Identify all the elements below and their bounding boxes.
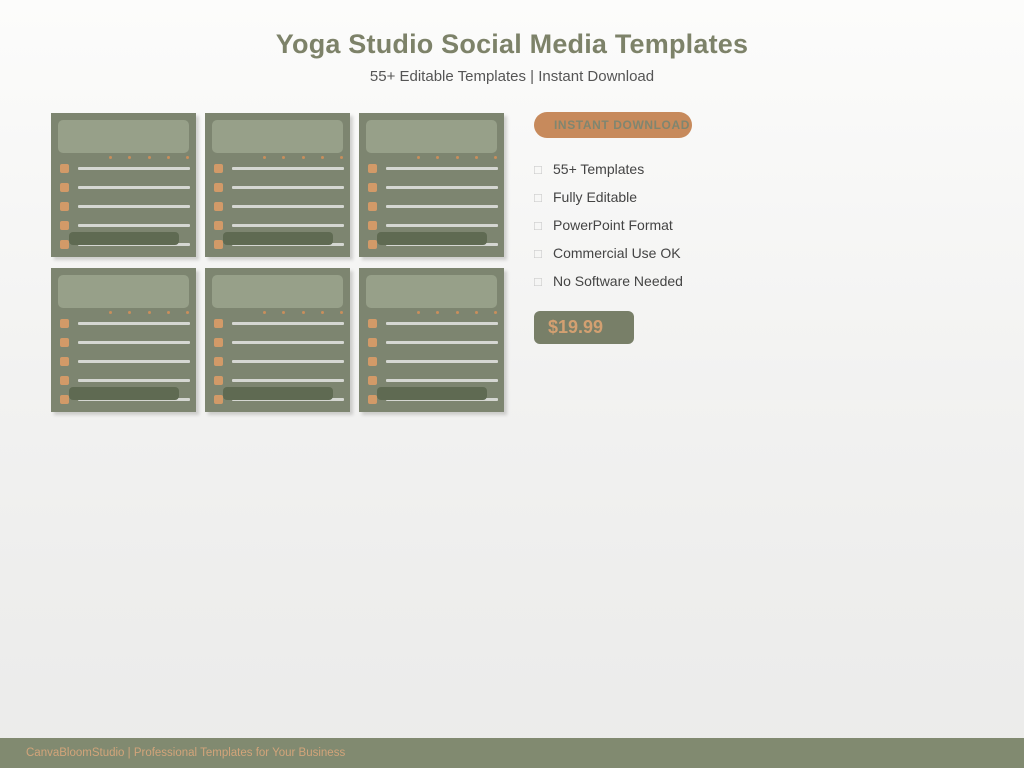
template-card-row [368, 374, 498, 386]
product-info-panel: INSTANT DOWNLOAD □55+ Templates□Fully Ed… [534, 112, 954, 138]
feature-list-item: □No Software Needed [534, 267, 834, 295]
template-card-row [60, 374, 190, 386]
template-card-row-line [78, 205, 190, 208]
instant-download-badge[interactable]: INSTANT DOWNLOAD [534, 112, 692, 138]
template-card-row-marker [368, 202, 377, 211]
feature-bullet-icon: □ [534, 275, 546, 288]
template-card-row-line [232, 167, 344, 170]
template-card-row [368, 162, 498, 174]
template-card-row-marker [214, 240, 223, 249]
template-card-dot [456, 156, 459, 159]
template-card-dot [282, 311, 285, 314]
template-card-dot [321, 156, 324, 159]
template-card-dot-row [417, 156, 497, 161]
price-badge-label: $19.99 [548, 311, 603, 344]
template-card-row-marker [368, 221, 377, 230]
template-card-dot [417, 311, 420, 314]
template-card-row [60, 219, 190, 231]
template-card-dot [109, 156, 112, 159]
template-card-row-line [232, 322, 344, 325]
template-card-row [368, 317, 498, 329]
template-card-header-bar [366, 275, 497, 308]
template-card-footer-bar [377, 387, 487, 400]
template-card-row-marker [214, 376, 223, 385]
template-card-row-line [78, 167, 190, 170]
feature-label: No Software Needed [553, 273, 683, 289]
template-card-footer-bar [69, 232, 179, 245]
template-card-dot [282, 156, 285, 159]
template-card-row [60, 355, 190, 367]
template-card-dot [475, 156, 478, 159]
template-card-dot [148, 156, 151, 159]
feature-list-item: □Commercial Use OK [534, 239, 834, 267]
template-card-row [60, 336, 190, 348]
template-card-dot [436, 156, 439, 159]
feature-label: 55+ Templates [553, 161, 644, 177]
template-card-row-marker [60, 221, 69, 230]
template-card-dot-row [417, 311, 497, 316]
template-card-row-line [232, 379, 344, 382]
template-card-row-marker [214, 338, 223, 347]
feature-label: PowerPoint Format [553, 217, 673, 233]
feature-bullet-icon: □ [534, 191, 546, 204]
template-card[interactable] [359, 113, 504, 257]
template-card-dot [340, 311, 343, 314]
template-card[interactable] [359, 268, 504, 412]
page-header: Yoga Studio Social Media Templates 55+ E… [0, 0, 1024, 87]
template-card-dot-row [109, 311, 189, 316]
template-card-dot [128, 156, 131, 159]
template-card-row-marker [60, 240, 69, 249]
template-card-row-line [232, 205, 344, 208]
template-card-footer-bar [377, 232, 487, 245]
template-card-row-marker [368, 319, 377, 328]
template-card-dot [321, 311, 324, 314]
template-card-row-line [386, 205, 498, 208]
footer-brand-text: CanvaBloomStudio | Professional Template… [26, 738, 345, 768]
template-card-row-marker [368, 376, 377, 385]
template-card-row [368, 355, 498, 367]
template-card-row-line [386, 186, 498, 189]
feature-label: Fully Editable [553, 189, 637, 205]
feature-list-item: □Fully Editable [534, 183, 834, 211]
footer-bar: CanvaBloomStudio | Professional Template… [0, 738, 1024, 768]
template-card-row-line [386, 224, 498, 227]
template-card-row-marker [60, 183, 69, 192]
feature-list-item: □PowerPoint Format [534, 211, 834, 239]
template-card-row-line [386, 322, 498, 325]
template-card-row-line [78, 341, 190, 344]
template-card-header-bar [212, 120, 343, 153]
template-card-row [214, 317, 344, 329]
template-card-row-marker [60, 338, 69, 347]
template-card-row [214, 162, 344, 174]
template-card-footer-bar [223, 387, 333, 400]
template-card-row-marker [60, 202, 69, 211]
template-card-row [214, 336, 344, 348]
template-card-dot [167, 156, 170, 159]
template-card-dot [109, 311, 112, 314]
template-card-row-marker [60, 357, 69, 366]
template-card-dot [167, 311, 170, 314]
template-card-row [214, 374, 344, 386]
template-card-dot [148, 311, 151, 314]
template-card-header-bar [366, 120, 497, 153]
template-card-dot [475, 311, 478, 314]
template-card-footer-bar [69, 387, 179, 400]
template-card-row-line [232, 341, 344, 344]
feature-bullet-icon: □ [534, 247, 546, 260]
page-subtitle: 55+ Editable Templates | Instant Downloa… [0, 61, 1024, 87]
template-card-row-marker [214, 183, 223, 192]
template-card-row-line [386, 167, 498, 170]
template-card-dot-row [263, 156, 343, 161]
template-card-dot [302, 156, 305, 159]
template-card-header-bar [212, 275, 343, 308]
template-card-row-marker [60, 319, 69, 328]
template-card-row-line [78, 186, 190, 189]
template-card-row-line [232, 224, 344, 227]
template-card-row-marker [368, 357, 377, 366]
template-card[interactable] [205, 113, 350, 257]
template-card-row-marker [368, 240, 377, 249]
template-card-row-line [78, 224, 190, 227]
template-card-row-marker [214, 357, 223, 366]
template-card[interactable] [51, 268, 196, 412]
template-card-row-line [78, 360, 190, 363]
template-card-row-line [386, 379, 498, 382]
page-title: Yoga Studio Social Media Templates [0, 0, 1024, 61]
template-card-row-line [232, 186, 344, 189]
template-card-dot [340, 156, 343, 159]
template-card-row-line [386, 360, 498, 363]
template-card-dot [494, 311, 497, 314]
template-card-row [214, 181, 344, 193]
template-card-dot-row [263, 311, 343, 316]
template-card-header-bar [58, 275, 189, 308]
template-card-row-marker [60, 395, 69, 404]
template-card-row [60, 181, 190, 193]
template-card-row-marker [214, 202, 223, 211]
template-card-row [368, 336, 498, 348]
template-card[interactable] [51, 113, 196, 257]
template-card-row-marker [214, 221, 223, 230]
template-card-row-marker [214, 164, 223, 173]
template-card-row-marker [214, 395, 223, 404]
template-card-row-marker [368, 183, 377, 192]
template-card-dot-row [109, 156, 189, 161]
template-card-row-marker [368, 164, 377, 173]
template-card-row-marker [60, 164, 69, 173]
template-card-row [60, 200, 190, 212]
template-card-dot [186, 156, 189, 159]
template-card-header-bar [58, 120, 189, 153]
template-card-dot [436, 311, 439, 314]
template-card-row [368, 219, 498, 231]
feature-list: □55+ Templates□Fully Editable□PowerPoint… [534, 155, 834, 295]
template-card-row-line [78, 379, 190, 382]
template-card-dot [263, 156, 266, 159]
template-card-dot [417, 156, 420, 159]
template-card-row-marker [214, 319, 223, 328]
template-card[interactable] [205, 268, 350, 412]
feature-bullet-icon: □ [534, 219, 546, 232]
template-card-dot [128, 311, 131, 314]
template-card-dot [186, 311, 189, 314]
template-card-footer-bar [223, 232, 333, 245]
template-card-row-marker [60, 376, 69, 385]
template-card-row-line [78, 322, 190, 325]
template-card-row-marker [368, 395, 377, 404]
template-card-row [214, 200, 344, 212]
template-card-row [60, 162, 190, 174]
price-badge[interactable]: $19.99 [534, 311, 634, 344]
template-card-dot [302, 311, 305, 314]
template-card-row [60, 317, 190, 329]
feature-bullet-icon: □ [534, 163, 546, 176]
template-card-row [368, 200, 498, 212]
template-gallery-grid [51, 113, 511, 412]
template-card-row [214, 219, 344, 231]
feature-list-item: □55+ Templates [534, 155, 834, 183]
template-card-dot [263, 311, 266, 314]
template-card-row-line [232, 360, 344, 363]
template-card-row-marker [368, 338, 377, 347]
feature-label: Commercial Use OK [553, 245, 681, 261]
template-card-dot [494, 156, 497, 159]
template-card-dot [456, 311, 459, 314]
template-card-row [368, 181, 498, 193]
template-card-row [214, 355, 344, 367]
template-card-row-line [386, 341, 498, 344]
instant-download-badge-label: INSTANT DOWNLOAD [554, 112, 690, 138]
